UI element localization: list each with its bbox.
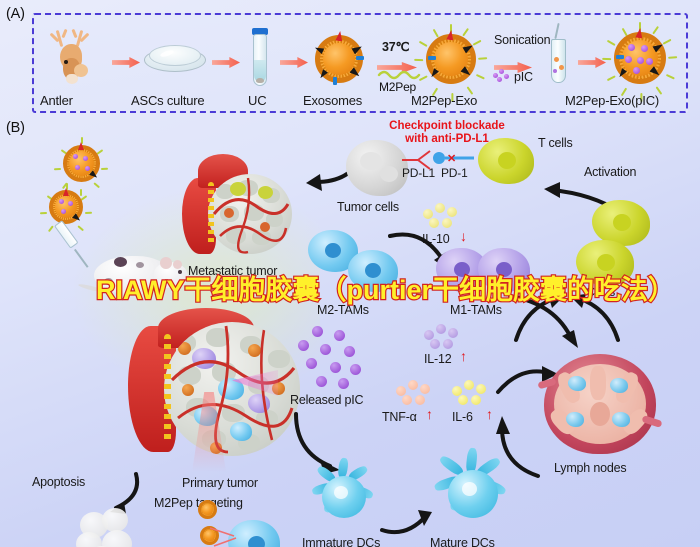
pd-1-label: PD-1	[441, 166, 468, 180]
temperature-label: 37℃	[382, 39, 409, 54]
pic-label: pIC	[514, 70, 533, 84]
il10-label: IL-10	[422, 232, 450, 246]
petri-dish-icon	[144, 44, 206, 74]
il10-direction-arrow: ↓	[460, 228, 467, 244]
il12-label: IL-12	[424, 352, 452, 366]
blockade-x-icon: ✕	[447, 152, 456, 165]
panel-a-step-label-ascs: ASCs culture	[131, 93, 204, 108]
il6-direction-arrow: ↑	[486, 406, 493, 422]
released-pic-dots	[296, 326, 364, 388]
mature-dcs-label: Mature DCs	[430, 536, 495, 547]
il6-cytokine-dots	[452, 380, 486, 406]
checkpoint-blockade-line1: Checkpoint blockade	[372, 120, 522, 133]
sonication-label: Sonication	[494, 33, 550, 47]
pd-l1-label: PD-L1	[402, 166, 435, 180]
tnfa-direction-arrow: ↑	[426, 406, 433, 422]
tumor-cells-icon	[346, 140, 408, 198]
panel-b-tag: (B)	[6, 120, 25, 136]
primary-tumor-icon	[128, 308, 308, 472]
scientific-figure: (A) Antler ASCs culture UC	[0, 0, 700, 547]
lymph-nodes-label: Lymph nodes	[554, 461, 626, 475]
centrifuge-tube-icon	[248, 28, 272, 90]
panel-a-step-label-m2pepexo: M2Pep-Exo	[411, 93, 477, 108]
il6-label: IL-6	[452, 410, 473, 424]
primary-tumor-label: Primary tumor	[182, 476, 258, 490]
m2pep-targeting-icon	[196, 500, 288, 547]
deer-icon	[44, 28, 110, 90]
panel-a-step-label-antler: Antler	[40, 93, 73, 108]
t-cells-label: T cells	[538, 136, 573, 150]
il10-cytokine-dots	[423, 203, 457, 229]
panel-a-step-label-exosomes: Exosomes	[303, 93, 362, 108]
apoptosis-label: Apoptosis	[32, 475, 85, 489]
tnfa-label: TNF-α	[382, 410, 417, 424]
lymph-node-icon	[538, 354, 662, 460]
nanoparticle-icon	[58, 140, 106, 188]
nanoparticle-icon	[45, 186, 89, 230]
released-pic-label: Released pIC	[290, 393, 363, 407]
activation-label: Activation	[584, 165, 636, 179]
panel-a-step-label-m2pepexopic: M2Pep-Exo(pIC)	[565, 93, 659, 108]
apoptotic-cell-icon	[74, 508, 140, 547]
panel-a-tag: (A)	[6, 6, 25, 22]
mature-dc-icon	[430, 454, 516, 534]
m2pep-exosome-icon	[420, 28, 482, 90]
metastatic-tumor-icon	[182, 156, 298, 260]
panel-a-step-label-uc: UC	[248, 93, 266, 108]
m2pep-label: M2Pep	[379, 80, 416, 94]
il12-direction-arrow: ↑	[460, 348, 467, 364]
immature-dc-icon	[306, 462, 382, 534]
exosome-icon	[312, 32, 366, 86]
t-cell-icon	[478, 138, 534, 186]
il12-cytokine-dots	[424, 324, 458, 350]
immature-dcs-label: Immature DCs	[302, 536, 380, 547]
tnfa-cytokine-dots	[396, 380, 430, 406]
pic-dots-icon	[493, 69, 511, 83]
watermark-text: RIAWY干细胞胶囊（purtier干细胞胶囊的吃法）	[96, 268, 696, 307]
m2pep-exosome-pic-icon	[608, 26, 672, 90]
sonicator-icon	[545, 23, 571, 89]
tumor-cells-label: Tumor cells	[337, 200, 399, 214]
